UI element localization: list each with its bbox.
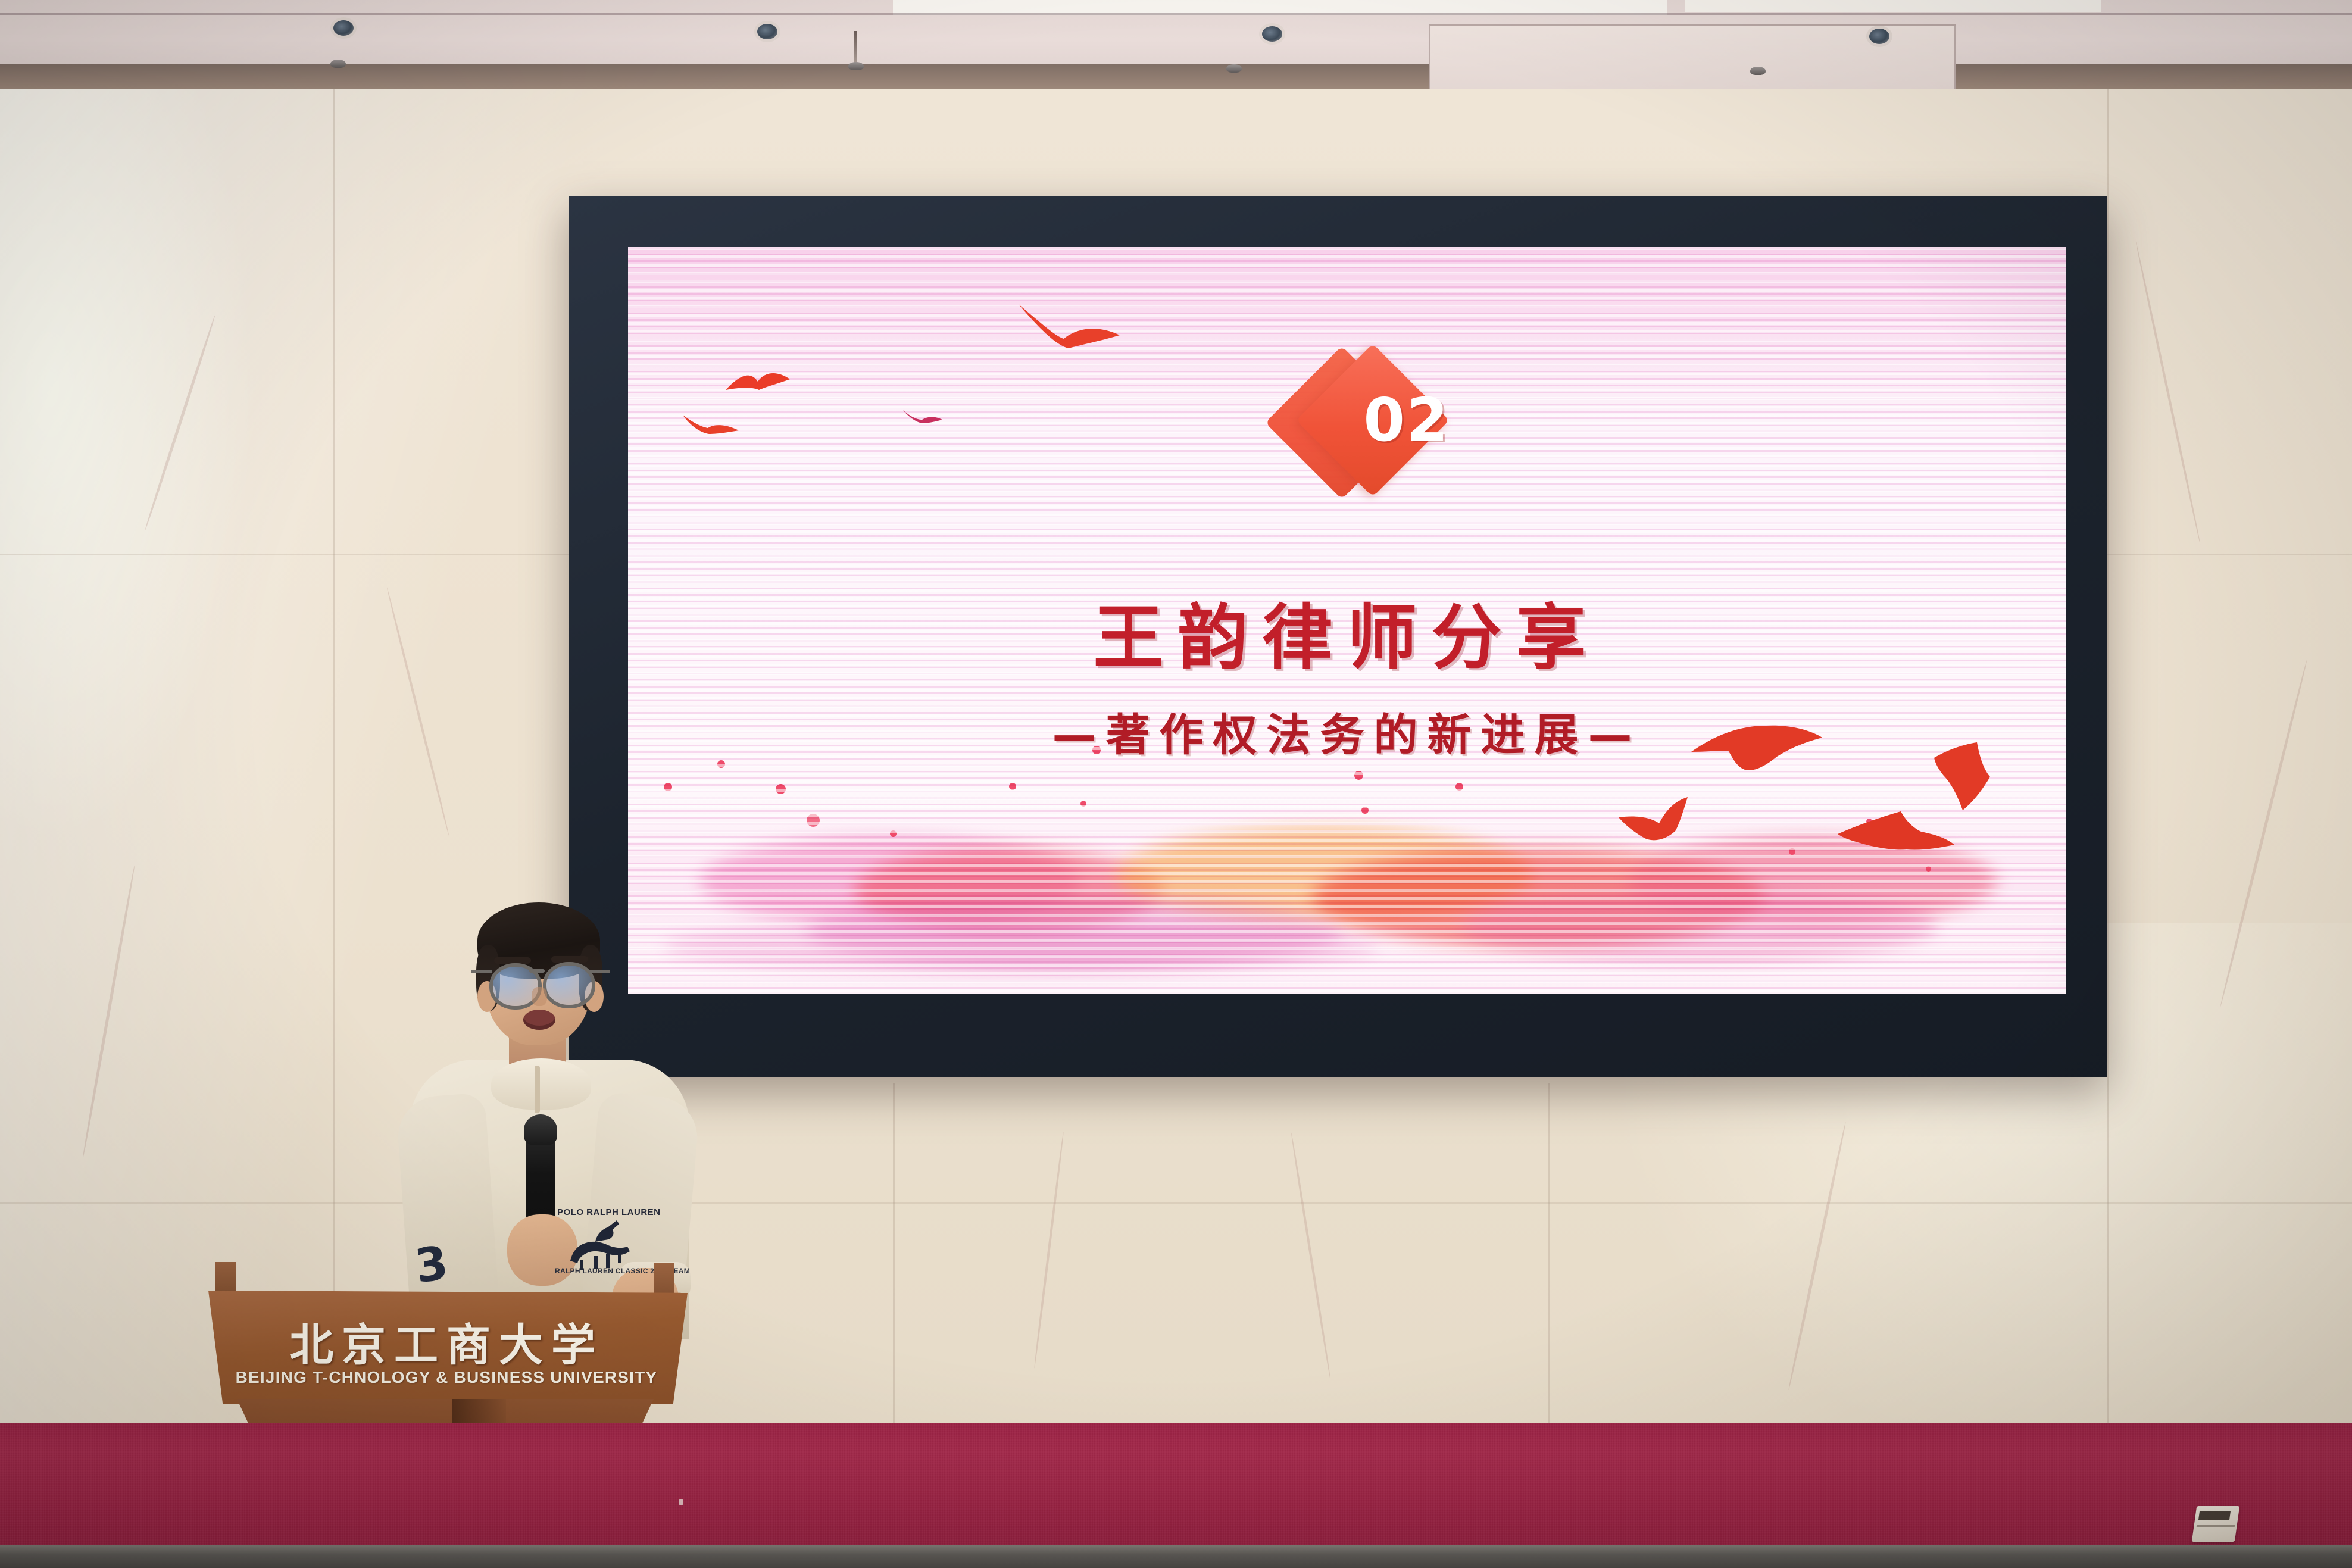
ceiling-trim-line [0,13,2352,15]
presentation-slide: 02 王韵律师分享 —著作权法务的新进展— [628,247,2066,994]
bird-icon [723,366,795,402]
section-badge: 02 [1277,354,1479,491]
dove-icon [1616,795,1694,848]
floor-outlet-slot [2198,1511,2231,1520]
wall-seam [1548,1083,1550,1429]
slide-title: 王韵律师分享 [628,580,2066,682]
speaker-nose [532,987,547,1006]
glasses-temple [589,970,610,973]
sprinkler-stem [854,31,857,67]
sweater-zipper [535,1066,540,1113]
downlight-icon [333,20,354,36]
bird-icon [1015,302,1122,364]
wall-seam [333,89,335,1429]
downlight-icon [1262,26,1282,42]
downlight-icon [757,24,777,39]
speaker-mouth [523,1010,555,1030]
sweater-collar [491,1058,591,1110]
sprinkler-icon [1226,64,1242,73]
bird-icon [682,408,741,439]
wall-seam [0,1202,2352,1204]
microphone-head [524,1114,557,1145]
stage-edge [0,1545,2352,1568]
badge-number: 02 [1347,385,1466,455]
wall-seam [0,554,571,555]
wall-light-glow [0,89,250,833]
glasses-lens [543,962,595,1008]
bird-icon [902,407,944,426]
brand-text-line2: RALPH LAUREN CLASSIC 2007 TEAM [555,1267,650,1275]
sprinkler-icon [1750,67,1766,75]
podium-university-name-cn: 北京工商大学 [214,1310,679,1373]
slide-subtitle: —著作权法务的新进展— [628,699,2066,763]
wall-seam [893,1083,895,1429]
sprinkler-icon [330,60,346,68]
floor-outlet-seam [2197,1525,2235,1527]
sprinkler-icon [848,62,864,70]
lecture-hall-photo: 02 王韵律师分享 —著作权法务的新进展— [0,0,2352,1568]
dove-icon [1688,717,1825,783]
glasses-temple [471,970,492,973]
sleeve-number: 3 [410,1236,453,1294]
ceiling-skylight-strip-2 [1685,0,2101,12]
downlight-icon [1869,29,1889,44]
carpet-speck [679,1499,683,1505]
dove-icon [1926,740,1997,814]
wall-seam [2107,89,2109,1429]
glasses-bridge [529,969,545,973]
polo-horse-icon [560,1214,637,1272]
podium-university-name-en: BEIJING T-CHNOLOGY & BUSINESS UNIVERSITY [214,1368,679,1387]
wall-seam [2107,554,2352,555]
